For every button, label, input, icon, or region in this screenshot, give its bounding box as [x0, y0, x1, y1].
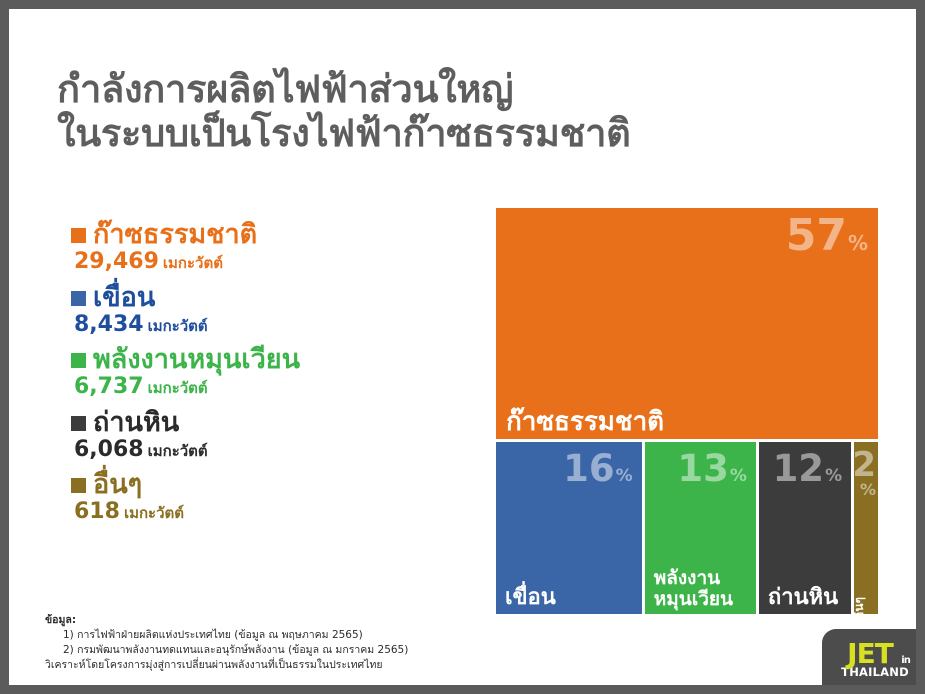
treemap-cell-coal[interactable]: 12% ถ่านหิน — [759, 442, 851, 614]
treemap-cell-label-line-2: หมุนเวียน — [654, 589, 733, 610]
legend-item-unit: เมกะวัตต์ — [148, 442, 208, 460]
legend-item-value: 6,068 — [74, 437, 144, 462]
treemap-cell-label: ถ่านหิน — [768, 586, 838, 610]
legend-item-value: 29,469 — [74, 249, 159, 274]
percent-value: 16 — [563, 450, 615, 487]
source-line-3: วิเคราะห์โดยโครงการมุ่งสู่การเปลี่ยนผ่าน… — [45, 658, 605, 673]
treemap-cell-other[interactable]: 2% อื่นๆ — [854, 442, 878, 614]
page-title: กำลังการผลิตไฟฟ้าส่วนใหญ่ ในระบบเป็นโรงไ… — [57, 67, 657, 155]
treemap-cell-hydro[interactable]: 16% เขื่อน — [496, 442, 642, 614]
source-line-1: 1) การไฟฟ้าฝ่ายผลิตแห่งประเทศไทย (ข้อมูล… — [45, 628, 605, 643]
percent-value: 2 — [854, 448, 876, 482]
source-notes: ข้อมูล: 1) การไฟฟ้าฝ่ายผลิตแห่งประเทศไทย… — [45, 613, 605, 673]
legend-item-value: 6,737 — [74, 374, 144, 399]
legend-swatch-icon — [71, 416, 86, 431]
title-line-1: กำลังการผลิตไฟฟ้าส่วนใหญ่ — [57, 67, 657, 111]
legend-swatch-icon — [71, 291, 86, 306]
legend-item-label: พลังงานหมุนเวียน — [93, 344, 300, 375]
treemap-row-bottom: 16% เขื่อน 13% พลังงาน หมุนเวียน 12% — [496, 442, 878, 614]
legend-item-label: อื่นๆ — [93, 469, 142, 500]
legend-item-value: 618 — [74, 499, 120, 524]
legend-item-label: ก๊าซธรรมชาติ — [93, 219, 257, 250]
treemap-cell-percent: 57% — [786, 214, 868, 258]
legend-item-unit: เมกะวัตต์ — [124, 504, 184, 522]
legend-item-hydro: เขื่อน 8,434เมกะวัตต์ — [71, 282, 471, 339]
source-line-2: 2) กรมพัฒนาพลังงานทดแทนและอนุรักษ์พลังงา… — [45, 643, 605, 658]
legend-item-coal: ถ่านหิน 6,068เมกะวัตต์ — [71, 407, 471, 464]
logo-in-label: in — [901, 657, 910, 666]
treemap-cell-label: พลังงาน หมุนเวียน — [654, 568, 733, 610]
legend-swatch-icon — [71, 353, 86, 368]
percent-symbol: % — [860, 482, 876, 498]
percent-value: 12 — [773, 450, 825, 487]
legend-swatch-icon — [71, 228, 86, 243]
treemap-cell-percent: 16% — [563, 450, 633, 487]
legend-item-unit: เมกะวัตต์ — [163, 254, 223, 272]
outer-frame: กำลังการผลิตไฟฟ้าส่วนใหญ่ ในระบบเป็นโรงไ… — [0, 0, 925, 694]
jet-in-thailand-logo: JET in THAILAND — [822, 629, 916, 685]
treemap-cell-label: เขื่อน — [505, 586, 556, 610]
percent-symbol: % — [848, 233, 868, 253]
source-heading: ข้อมูล: — [45, 613, 605, 628]
legend-item-label: เขื่อน — [93, 282, 155, 313]
treemap-cell-percent: 2% — [856, 448, 876, 498]
percent-symbol: % — [825, 468, 842, 485]
treemap-cell-label-line-1: พลังงาน — [654, 568, 733, 589]
percent-value: 13 — [677, 450, 729, 487]
treemap-cell-renewable[interactable]: 13% พลังงาน หมุนเวียน — [645, 442, 756, 614]
logo-jet-text: JET in — [847, 642, 893, 666]
legend-item-unit: เมกะวัตต์ — [148, 379, 208, 397]
title-line-2: ในระบบเป็นโรงไฟฟ้าก๊าซธรรมชาติ — [57, 111, 657, 155]
treemap-chart: 57% ก๊าซธรรมชาติ 16% เขื่อน 13% — [496, 208, 878, 611]
treemap-cell-natural-gas[interactable]: 57% ก๊าซธรรมชาติ — [496, 208, 878, 439]
legend-item-natural-gas: ก๊าซธรรมชาติ 29,469เมกะวัตต์ — [71, 219, 471, 276]
logo-jet-label: JET — [847, 637, 893, 670]
treemap-cell-percent: 12% — [773, 450, 843, 487]
infographic-card: กำลังการผลิตไฟฟ้าส่วนใหญ่ ในระบบเป็นโรงไ… — [9, 9, 916, 685]
legend-item-label: ถ่านหิน — [93, 407, 179, 438]
legend-item-value: 8,434 — [74, 312, 144, 337]
treemap-cell-label: อื่นๆ — [854, 597, 866, 614]
treemap-cell-percent: 13% — [677, 450, 747, 487]
percent-symbol: % — [616, 468, 633, 485]
chart-legend: ก๊าซธรรมชาติ 29,469เมกะวัตต์ เขื่อน 8,43… — [71, 219, 471, 532]
percent-symbol: % — [730, 468, 747, 485]
legend-swatch-icon — [71, 478, 86, 493]
percent-value: 57 — [786, 214, 847, 258]
legend-item-renewable: พลังงานหมุนเวียน 6,737เมกะวัตต์ — [71, 344, 471, 401]
legend-item-unit: เมกะวัตต์ — [148, 317, 208, 335]
treemap-cell-label: ก๊าซธรรมชาติ — [506, 408, 664, 436]
treemap-row-top: 57% ก๊าซธรรมชาติ — [496, 208, 878, 439]
legend-item-other: อื่นๆ 618เมกะวัตต์ — [71, 469, 471, 526]
